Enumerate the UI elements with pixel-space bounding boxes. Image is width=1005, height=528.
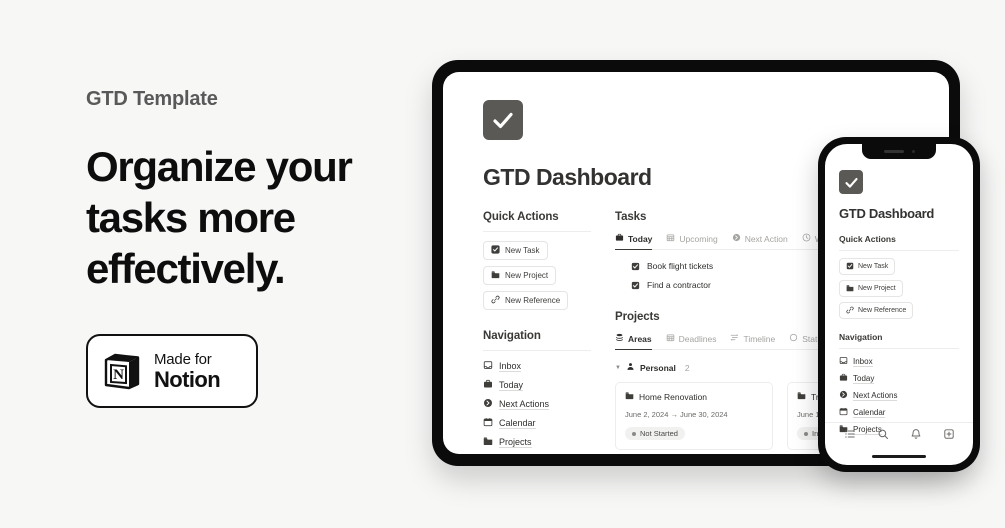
- sidebar-item-next-actions[interactable]: Next Actions: [839, 390, 959, 401]
- calendar-icon: [483, 417, 493, 429]
- phone-quick-actions-list: New Task New Project New Reference: [839, 258, 959, 319]
- headline-line-3: effectively.: [86, 243, 416, 294]
- divider: [839, 348, 959, 349]
- check-square-icon: [846, 262, 854, 272]
- quick-action-new-reference[interactable]: New Reference: [483, 291, 568, 310]
- project-card-title-row: Home Renovation: [625, 391, 763, 402]
- layers-icon: [615, 333, 624, 344]
- promo-graphic: GTD Template Organize your tasks more ef…: [0, 0, 1005, 528]
- inbox-tray-icon: [839, 356, 848, 367]
- tab-timeline[interactable]: Timeline: [730, 333, 775, 350]
- status-dot-icon: [632, 432, 636, 436]
- quick-action-new-project[interactable]: New Project: [839, 280, 903, 297]
- clock-icon: [802, 233, 811, 244]
- sidebar-item-label: Calendar: [499, 418, 536, 429]
- sidebar-item-label: Inbox: [499, 361, 521, 372]
- phone-screen: GTD Dashboard Quick Actions New Task: [825, 144, 973, 465]
- divider: [483, 231, 591, 232]
- quick-actions-heading: Quick Actions: [483, 211, 591, 223]
- folder-icon: [491, 270, 500, 281]
- sidebar-item-projects[interactable]: Projects: [483, 436, 591, 448]
- status-dot-icon: [804, 432, 808, 436]
- sidebar-item-today[interactable]: Today: [483, 379, 591, 391]
- timeline-icon: [730, 333, 739, 344]
- sidebar-item-label: Calendar: [853, 408, 885, 418]
- link-icon: [846, 306, 854, 316]
- project-card-title: Home Renovation: [639, 392, 707, 402]
- check-square-icon[interactable]: [631, 262, 640, 271]
- check-square-icon: [491, 245, 500, 256]
- arrow-circle-icon: [839, 390, 848, 401]
- quick-action-label: New Reference: [858, 307, 906, 314]
- folder-icon: [846, 284, 854, 294]
- badge-notion-label: Notion: [154, 369, 220, 391]
- notion-cube-icon: N: [102, 351, 142, 391]
- tab-label: Deadlines: [679, 334, 717, 344]
- quick-action-new-task[interactable]: New Task: [839, 258, 895, 275]
- search-icon[interactable]: [877, 427, 889, 445]
- navigation-list: Inbox Today: [483, 360, 591, 448]
- quick-actions-list: New Task New Project: [483, 241, 591, 310]
- bell-icon[interactable]: [910, 427, 922, 445]
- briefcase-icon: [615, 233, 624, 244]
- arrow-circle-icon: [732, 233, 741, 244]
- check-square-icon: [839, 170, 863, 194]
- folder-icon: [483, 436, 493, 448]
- made-for-notion-badge[interactable]: N Made for Notion: [86, 334, 258, 408]
- person-icon: [626, 362, 635, 373]
- navigation-heading: Navigation: [483, 330, 591, 342]
- headline-line-1: Organize your: [86, 141, 416, 192]
- sidebar-item-label: Today: [499, 380, 523, 391]
- page-title: Organize your tasks more effectively.: [86, 141, 416, 294]
- plus-box-icon[interactable]: [943, 427, 955, 445]
- calendar-grid-icon: [666, 333, 675, 344]
- eyebrow-label: GTD Template: [86, 88, 416, 111]
- list-icon[interactable]: [844, 427, 856, 445]
- calendar-grid-icon: [666, 233, 675, 244]
- sidebar-item-inbox[interactable]: Inbox: [839, 356, 959, 367]
- speaker-icon: [884, 150, 904, 153]
- tab-deadlines[interactable]: Deadlines: [666, 333, 717, 350]
- divider: [839, 250, 959, 251]
- folder-icon: [625, 391, 634, 402]
- status-badge: Not Started: [625, 427, 685, 440]
- phone-notch: [862, 144, 936, 159]
- phone-device-mockup: GTD Dashboard Quick Actions New Task: [818, 137, 980, 472]
- quick-action-new-reference[interactable]: New Reference: [839, 302, 913, 319]
- quick-action-label: New Project: [505, 271, 548, 280]
- quick-action-new-task[interactable]: New Task: [483, 241, 548, 260]
- quick-action-label: New Task: [858, 263, 888, 270]
- sidebar-item-calendar[interactable]: Calendar: [839, 407, 959, 418]
- sidebar-item-label: Today: [853, 374, 874, 384]
- project-card-dates: June 2, 2024 → June 30, 2024: [625, 410, 763, 419]
- marketing-copy: GTD Template Organize your tasks more ef…: [86, 88, 416, 408]
- tab-upcoming[interactable]: Upcoming: [666, 233, 717, 250]
- tab-label: Upcoming: [679, 234, 717, 244]
- briefcase-icon: [483, 379, 493, 391]
- badge-text: Made for Notion: [154, 352, 220, 391]
- sidebar-item-label: Next Actions: [853, 391, 897, 401]
- quick-action-label: New Task: [505, 246, 540, 255]
- home-indicator: [872, 455, 926, 459]
- check-square-icon: [483, 100, 523, 140]
- briefcase-icon: [839, 373, 848, 384]
- quick-action-new-project[interactable]: New Project: [483, 266, 556, 285]
- link-icon: [491, 295, 500, 306]
- calendar-icon: [839, 407, 848, 418]
- sidebar-item-inbox[interactable]: Inbox: [483, 360, 591, 372]
- arrow-circle-icon: [483, 398, 493, 410]
- phone-quick-actions-heading: Quick Actions: [839, 234, 959, 244]
- tab-areas[interactable]: Areas: [615, 333, 652, 350]
- status-badge-label: Not Started: [640, 429, 678, 438]
- sidebar-item-next-actions[interactable]: Next Actions: [483, 398, 591, 410]
- tab-label: Today: [628, 234, 652, 244]
- divider: [483, 350, 591, 351]
- project-group-name: Personal: [640, 363, 676, 373]
- check-square-icon[interactable]: [631, 281, 640, 290]
- tab-today[interactable]: Today: [615, 233, 652, 250]
- tab-label: Timeline: [743, 334, 775, 344]
- quick-action-label: New Project: [858, 285, 896, 292]
- sidebar-item-label: Next Actions: [499, 399, 549, 410]
- tab-label: Areas: [628, 334, 652, 344]
- sidebar-item-label: Projects: [499, 437, 532, 448]
- tab-label: Next Action: [745, 234, 788, 244]
- phone-dashboard-title: GTD Dashboard: [839, 206, 959, 221]
- folder-icon: [797, 391, 806, 402]
- phone-navigation-heading: Navigation: [839, 332, 959, 342]
- sidebar-item-label: Inbox: [853, 357, 873, 367]
- inbox-tray-icon: [483, 360, 493, 372]
- sidebar-item-today[interactable]: Today: [839, 373, 959, 384]
- tab-next-action[interactable]: Next Action: [732, 233, 788, 250]
- circle-icon: [789, 333, 798, 344]
- task-label: Find a contractor: [647, 280, 711, 290]
- project-group-count: 2: [685, 363, 690, 373]
- chevron-down-icon[interactable]: ▼: [615, 365, 621, 371]
- badge-made-for-label: Made for: [154, 352, 220, 367]
- svg-text:N: N: [113, 367, 124, 383]
- camera-icon: [912, 150, 915, 153]
- phone-bottom-tab-bar: [825, 422, 973, 448]
- project-card[interactable]: Home Renovation June 2, 2024 → June 30, …: [615, 382, 773, 450]
- quick-action-label: New Reference: [505, 296, 560, 305]
- headline-line-2: tasks more: [86, 192, 416, 243]
- sidebar-item-calendar[interactable]: Calendar: [483, 417, 591, 429]
- tablet-sidebar-column: Quick Actions New Task: [483, 211, 591, 450]
- task-label: Book flight tickets: [647, 261, 713, 271]
